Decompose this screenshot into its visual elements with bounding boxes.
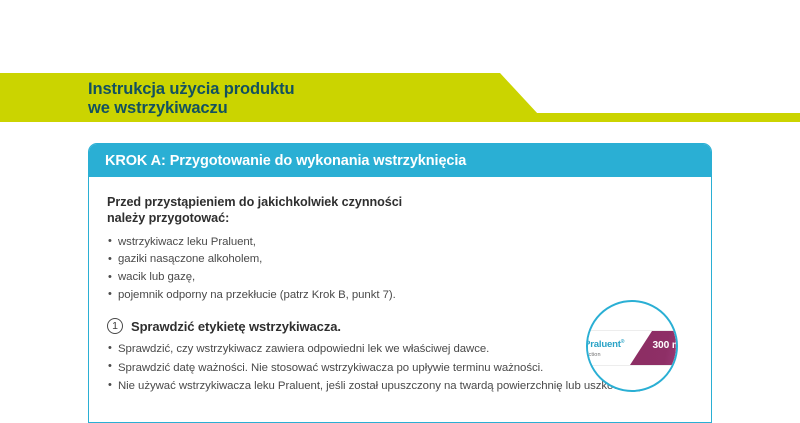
list-item: gaziki nasączone alkoholem,: [107, 251, 693, 269]
preparation-items-list: wstrzykiwacz leku Praluent, gaziki nasąc…: [107, 234, 693, 305]
step-number-badge: 1: [107, 318, 123, 334]
list-item: wacik lub gazę,: [107, 269, 693, 287]
pen-label-illustration: Praluent® jection 300 mg: [586, 300, 678, 392]
step-section-header: KROK A: Przygotowanie do wykonania wstrz…: [89, 144, 711, 177]
pen-brand-name: Praluent®: [586, 339, 624, 350]
page-header-banner: Instrukcja użycia produktu we wstrzykiwa…: [0, 73, 800, 122]
pen-dose-text: 300 mg: [652, 340, 678, 351]
step-one-title: Sprawdzić etykietę wstrzykiwacza.: [131, 319, 341, 334]
pen-label-graphic: Praluent® jection 300 mg: [586, 331, 678, 365]
step-section-title: KROK A: Przygotowanie do wykonania wstrz…: [105, 153, 466, 169]
preparation-lead-text: Przed przystąpieniem do jakichkolwiek cz…: [107, 194, 693, 227]
list-item: wstrzykiwacz leku Praluent,: [107, 234, 693, 252]
page-title: Instrukcja użycia produktu we wstrzykiwa…: [88, 80, 294, 119]
pen-brand-text: Praluent: [586, 339, 621, 350]
list-item: pojemnik odporny na przekłucie (patrz Kr…: [107, 287, 693, 305]
pen-subtext: jection: [586, 352, 601, 358]
trademark-symbol: ®: [621, 339, 624, 345]
